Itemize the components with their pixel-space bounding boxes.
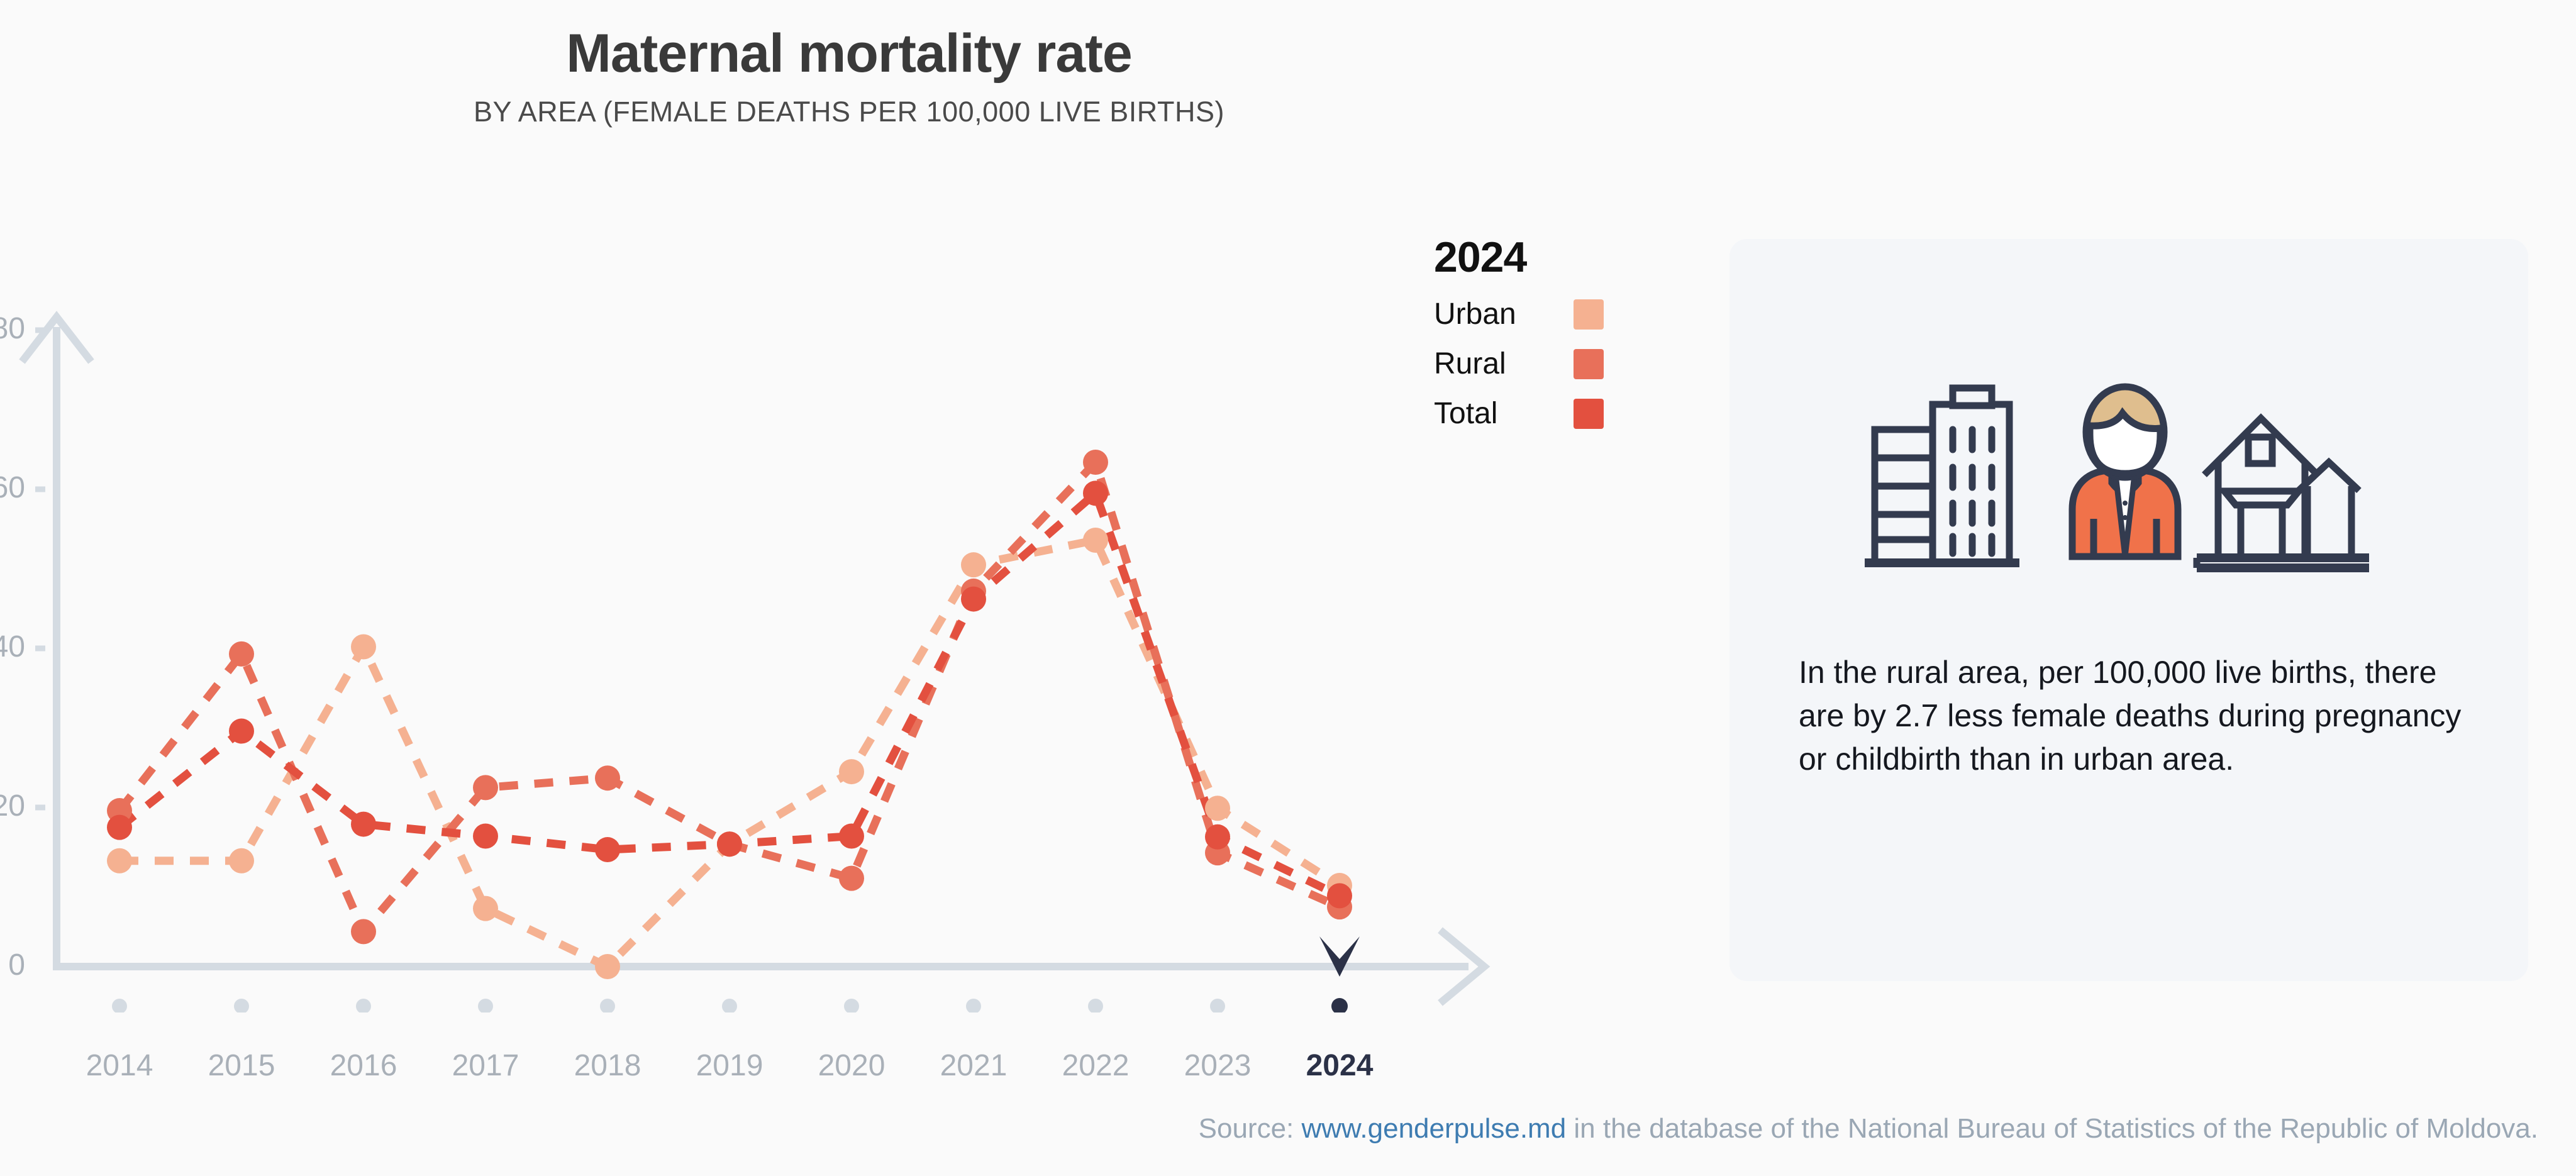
data-point-rural[interactable]: [1083, 450, 1108, 475]
x-axis-tick-label[interactable]: 2020: [782, 1048, 921, 1083]
x-axis-dot: [356, 999, 371, 1012]
x-axis-dot: [112, 999, 127, 1012]
legend-item-total[interactable]: Total: [1434, 396, 1604, 431]
y-axis-tick-label: 80: [0, 311, 25, 346]
series-line-rural: [119, 462, 1340, 931]
urban-rural-illustration: [1858, 374, 2399, 582]
data-point-rural[interactable]: [473, 775, 498, 800]
y-axis-tick-label: 0: [0, 948, 25, 982]
x-axis-tick-label[interactable]: 2023: [1148, 1048, 1287, 1083]
x-axis-dot: [722, 999, 737, 1012]
x-axis-tick-label[interactable]: 2021: [904, 1048, 1043, 1083]
data-point-urban[interactable]: [595, 954, 620, 979]
info-text: In the rural area, per 100,000 live birt…: [1799, 651, 2465, 781]
data-point-total[interactable]: [595, 837, 620, 862]
source-footer: Source: www.genderpulse.md in the databa…: [0, 1113, 2576, 1145]
data-point-rural[interactable]: [839, 866, 864, 891]
legend-rows: UrbanRuralTotal: [1434, 297, 1685, 431]
data-point-total[interactable]: [839, 824, 864, 849]
data-point-rural[interactable]: [229, 641, 254, 667]
data-point-total[interactable]: [961, 587, 986, 612]
info-illustration: [1858, 374, 2399, 585]
x-axis-tick-label[interactable]: 2015: [172, 1048, 311, 1083]
x-axis-dot: [478, 999, 493, 1012]
x-axis-dot: [844, 999, 859, 1012]
data-point-urban[interactable]: [1205, 796, 1230, 821]
legend-year: 2024: [1434, 233, 1685, 282]
legend-item-rural[interactable]: Rural: [1434, 347, 1604, 381]
woman-figure: [2072, 387, 2178, 557]
legend-item-urban[interactable]: Urban: [1434, 297, 1604, 331]
source-suffix: in the database of the National Bureau o…: [1566, 1113, 2538, 1144]
selected-year-marker-icon: [1319, 936, 1360, 977]
data-point-urban[interactable]: [839, 759, 864, 784]
legend-item-label: Rural: [1434, 347, 1506, 381]
infographic-page: Maternal mortality rate BY AREA (FEMALE …: [0, 0, 2576, 1176]
x-axis-dot: [966, 999, 981, 1012]
x-axis-dot: [234, 999, 249, 1012]
data-point-total[interactable]: [1327, 883, 1352, 908]
x-axis-tick-label[interactable]: 2017: [416, 1048, 555, 1083]
data-point-total[interactable]: [229, 719, 254, 744]
x-axis-tick-label[interactable]: 2019: [660, 1048, 799, 1083]
data-point-rural[interactable]: [595, 765, 620, 790]
source-link[interactable]: www.genderpulse.md: [1302, 1113, 1567, 1144]
y-axis-tick-label: 20: [0, 789, 25, 823]
x-axis-tick-label[interactable]: 2014: [50, 1048, 189, 1083]
x-axis-dot: [600, 999, 615, 1012]
info-card: In the rural area, per 100,000 live birt…: [1729, 239, 2528, 981]
legend-item-label: Urban: [1434, 297, 1516, 331]
data-point-urban[interactable]: [1083, 528, 1108, 553]
x-axis-tick-label[interactable]: 2016: [294, 1048, 433, 1083]
data-point-total[interactable]: [717, 831, 742, 857]
data-point-total[interactable]: [107, 815, 132, 840]
data-point-total[interactable]: [351, 812, 376, 837]
legend-swatch-icon: [1574, 349, 1604, 379]
data-point-urban[interactable]: [351, 634, 376, 659]
page-title: Maternal mortality rate: [0, 25, 1698, 82]
page-subtitle: BY AREA (FEMALE DEATHS PER 100,000 LIVE …: [0, 96, 1698, 128]
rural-house: [2197, 418, 2369, 568]
x-axis-tick-label[interactable]: 2022: [1026, 1048, 1165, 1083]
legend-swatch-icon: [1574, 399, 1604, 429]
data-point-rural[interactable]: [351, 919, 376, 944]
source-prefix: Source:: [1199, 1113, 1302, 1144]
legend-swatch-icon: [1574, 299, 1604, 330]
data-point-urban[interactable]: [107, 848, 132, 874]
series-line-urban: [119, 540, 1340, 967]
data-point-total[interactable]: [1083, 480, 1108, 506]
y-axis-tick-label: 40: [0, 630, 25, 664]
chart-legend: 2024 UrbanRuralTotal: [1434, 233, 1685, 431]
data-point-urban[interactable]: [961, 552, 986, 577]
line-chart-svg: [0, 208, 1610, 1012]
x-axis-dot: [1331, 998, 1348, 1012]
y-axis-tick-label: 60: [0, 470, 25, 505]
x-axis-tick-label[interactable]: 2018: [538, 1048, 677, 1083]
data-point-urban[interactable]: [229, 848, 254, 874]
x-axis-dot: [1088, 999, 1103, 1012]
data-point-urban[interactable]: [473, 896, 498, 921]
chart-header: Maternal mortality rate BY AREA (FEMALE …: [0, 25, 1698, 128]
data-point-total[interactable]: [473, 824, 498, 849]
x-axis-tick-label[interactable]: 2024: [1270, 1048, 1409, 1083]
legend-item-label: Total: [1434, 396, 1497, 431]
chart-plot-area: 020406080 201420152016201720182019202020…: [0, 208, 1610, 1000]
x-axis-dot: [1210, 999, 1225, 1012]
data-point-total[interactable]: [1205, 824, 1230, 850]
